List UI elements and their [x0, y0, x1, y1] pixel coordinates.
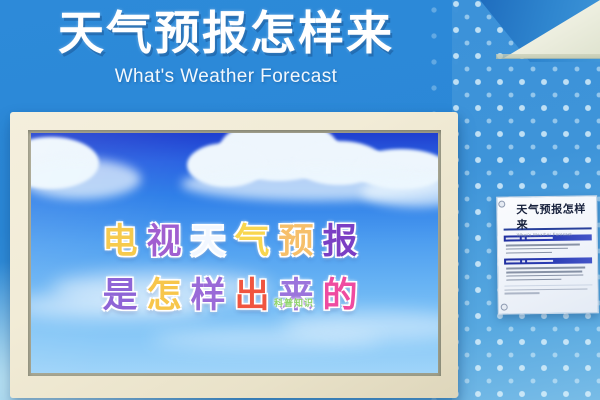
screen-bezel: 电视天气预报 是怎样出来的 科普知识: [28, 130, 441, 376]
exhibit-headline: 天气预报怎样来 What's Weather Forecast: [0, 6, 452, 88]
headline-title-chinese: 天气预报怎样来: [0, 6, 452, 60]
placard-body: [504, 229, 593, 294]
exhibit-info-placard[interactable]: 天气预报怎样来 What's Weather Forecast: [496, 195, 599, 314]
placard-header: 天气预报怎样来 What's Weather Forecast: [503, 201, 591, 230]
screen-title-char: 样: [190, 267, 234, 318]
tv-screen[interactable]: 电视天气预报 是怎样出来的 科普知识: [31, 133, 438, 373]
placard-section-text: [506, 267, 592, 281]
screen-title-char: 气: [235, 213, 279, 264]
screen-title-char: 电: [102, 213, 146, 264]
tv-picture-frame: 电视天气预报 是怎样出来的 科普知识: [10, 112, 458, 398]
screen-sub-caption: 科普知识: [274, 296, 314, 309]
screen-title-char: 怎: [146, 267, 190, 318]
screen-title-char: 报: [323, 213, 367, 264]
screen-title-char: 预: [279, 213, 323, 264]
screen-title-char: 来: [279, 267, 323, 318]
placard-screw-icon: [501, 304, 508, 311]
cloud-haze: [151, 329, 381, 349]
screen-title-char: 出: [235, 267, 279, 318]
placard-title-chinese: 天气预报怎样来: [503, 201, 591, 232]
screen-title-char: 是: [102, 267, 146, 318]
cloud-shape: [361, 177, 438, 207]
cloud-shape: [31, 159, 141, 199]
screen-title-line-1: 电视天气预报: [31, 213, 438, 264]
screen-title-char: 的: [323, 267, 367, 318]
screen-title-char: 视: [146, 213, 190, 264]
headline-subtitle-english: What's Weather Forecast: [0, 66, 452, 88]
placard-section-text: [506, 243, 592, 253]
screen-title-char: 天: [190, 213, 234, 264]
screen-title-line-2: 是怎样出来的: [31, 267, 438, 318]
ceiling-soffit-edge: [496, 54, 600, 59]
placard-footer-text: [504, 284, 592, 294]
placard-section-bar: [504, 258, 592, 265]
